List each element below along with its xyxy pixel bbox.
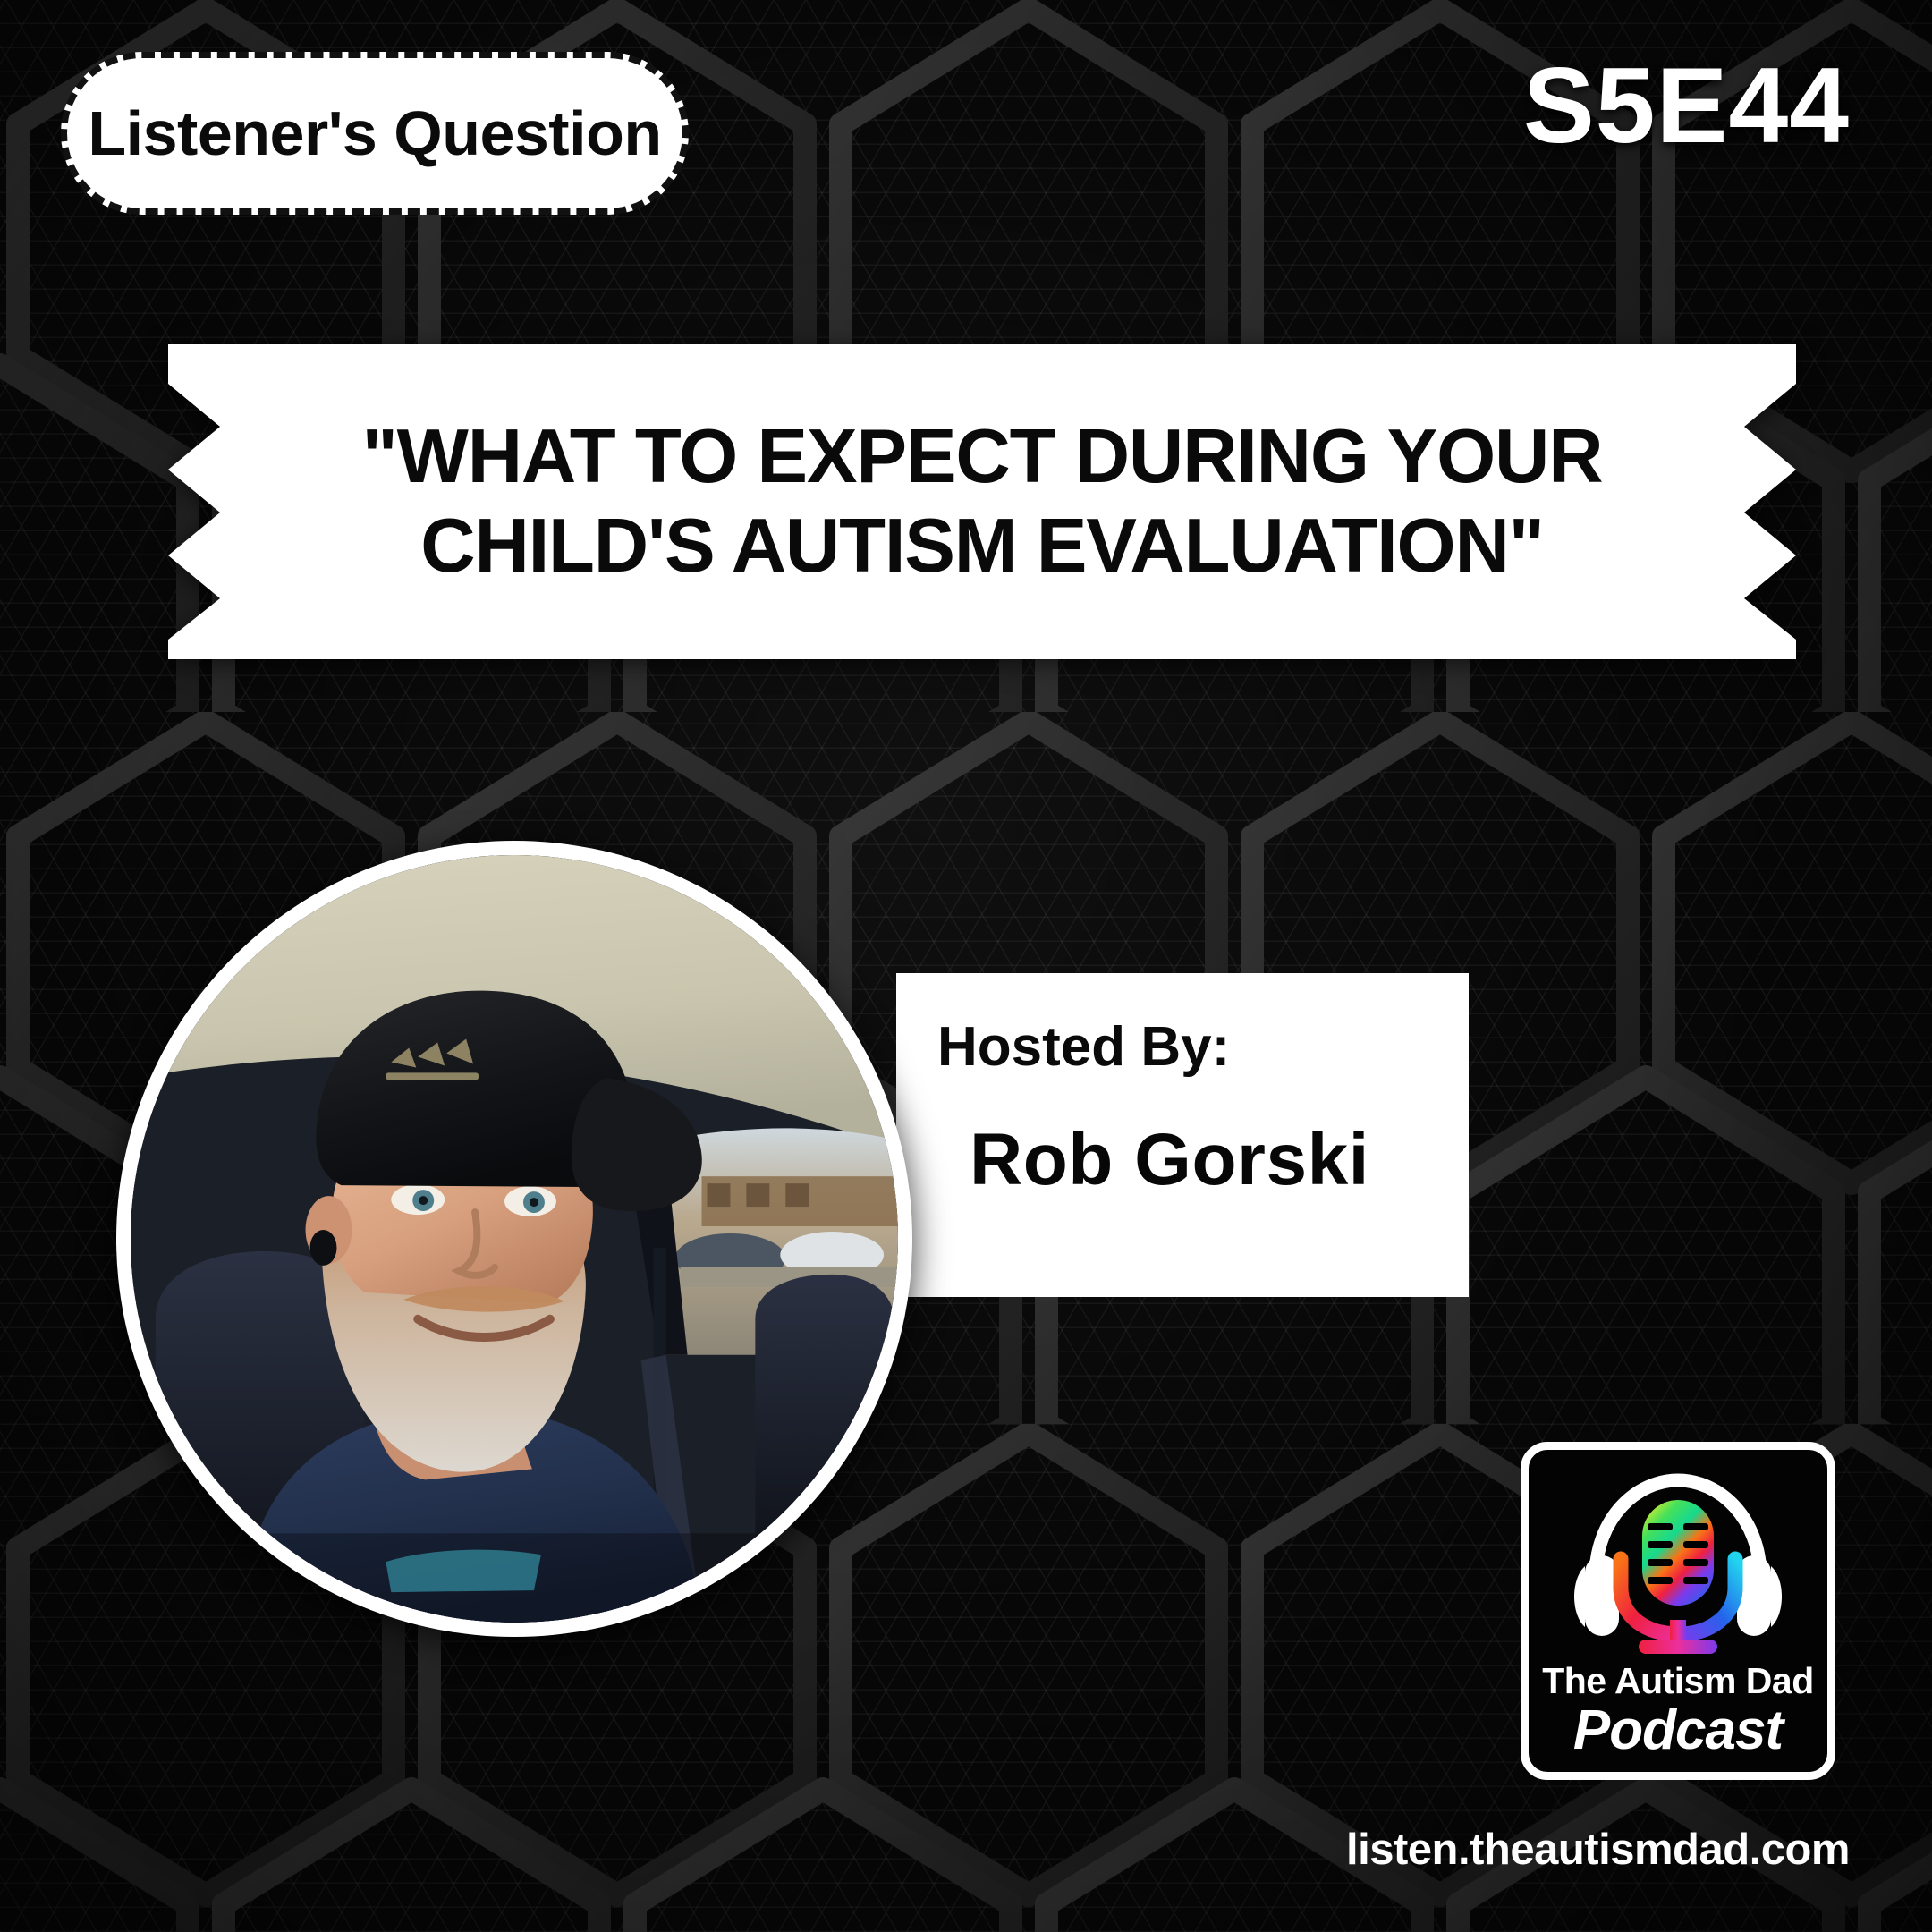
podcast-cover-art: Listener's Question S5E44 "WHAT TO EXPEC… <box>0 0 1932 1932</box>
hosted-by-panel: Hosted By: Rob Gorski <box>896 973 1469 1297</box>
listeners-question-badge: Listener's Question <box>61 52 689 215</box>
episode-title: "WHAT TO EXPECT DURING YOUR CHILD'S AUTI… <box>284 412 1680 592</box>
badge-label: Listener's Question <box>88 102 661 165</box>
hosted-by-label: Hosted By: <box>937 1020 1469 1075</box>
host-photo-ring <box>116 841 912 1637</box>
episode-number: S5E44 <box>1523 47 1850 165</box>
rainbow-microphone-icon <box>1642 1500 1714 1606</box>
logo-title-line-2: Podcast <box>1573 1703 1783 1758</box>
title-banner: "WHAT TO EXPECT DURING YOUR CHILD'S AUTI… <box>168 344 1796 659</box>
logo-title-line-1: The Autism Dad <box>1542 1663 1814 1699</box>
host-name: Rob Gorski <box>970 1123 1469 1197</box>
headphones-icon <box>1565 1466 1791 1661</box>
banner-text-area: "WHAT TO EXPECT DURING YOUR CHILD'S AUTI… <box>222 344 1742 659</box>
listen-url[interactable]: listen.theautismdad.com <box>1346 1825 1850 1875</box>
host-photo <box>131 855 898 1623</box>
podcast-logo-card: The Autism Dad Podcast <box>1521 1442 1835 1780</box>
